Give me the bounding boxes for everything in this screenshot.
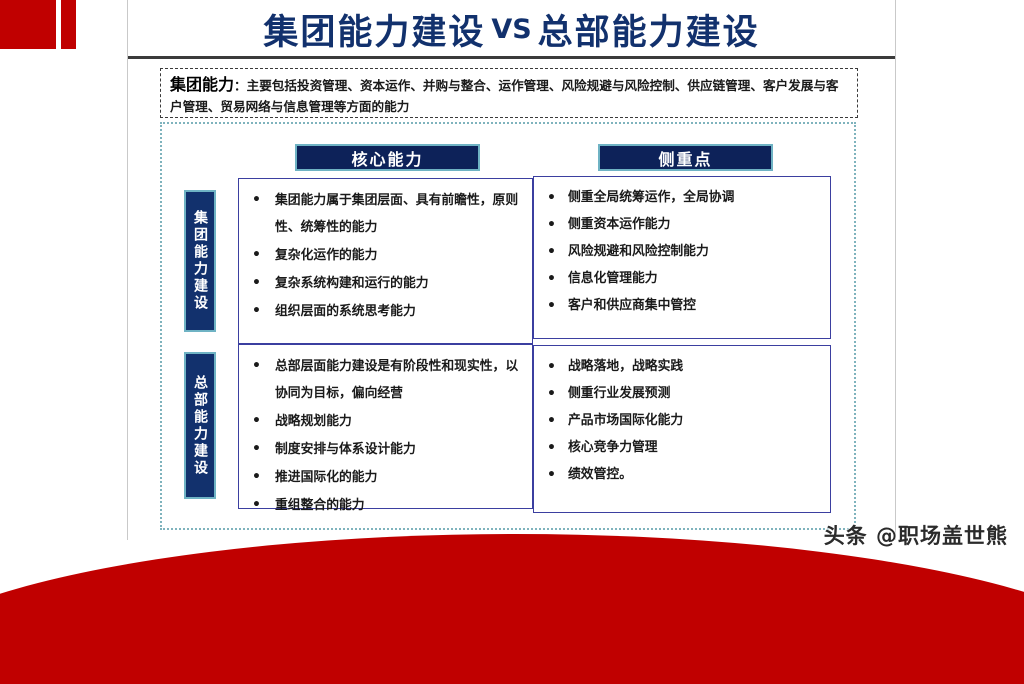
- bullet-item: 战略落地，战略实践: [540, 354, 824, 380]
- bullet-item: 推进国际化的能力: [245, 464, 526, 491]
- row-label-headquarters-capability: 总部能力建设: [184, 352, 216, 499]
- bullet-item: 客户和供应商集中管控: [540, 293, 824, 319]
- bullet-list-focus-group: 侧重全局统筹运作，全局协调侧重资本运作能力风险规避和风险控制能力信息化管理能力客…: [540, 185, 824, 319]
- watermark-text: 头条 @职场盖世熊: [824, 520, 1008, 550]
- left-margin-rule: [127, 0, 128, 540]
- bullet-item: 产品市场国际化能力: [540, 408, 824, 434]
- bullet-item: 制度安排与体系设计能力: [245, 436, 526, 463]
- row-label-group-capability: 集团能力建设: [184, 190, 216, 332]
- bullet-item: 核心竞争力管理: [540, 435, 824, 461]
- bullet-item: 侧重行业发展预测: [540, 381, 824, 407]
- row-label-group-text: 集团能力建设: [184, 210, 216, 312]
- right-margin-rule: [895, 0, 896, 540]
- bullet-item: 总部层面能力建设是有阶段性和现实性，以协同为目标，偏向经营: [245, 353, 526, 407]
- bullet-item: 组织层面的系统思考能力: [245, 298, 526, 325]
- bullet-item: 集团能力属于集团层面、具有前瞻性，原则性、统筹性的能力: [245, 187, 526, 241]
- bullet-item: 重组整合的能力: [245, 492, 526, 519]
- title-underline-rule: [128, 56, 895, 59]
- bullet-list-core-headquarters: 总部层面能力建设是有阶段性和现实性，以协同为目标，偏向经营战略规划能力制度安排与…: [245, 353, 526, 519]
- bullet-list-focus-headquarters: 战略落地，战略实践侧重行业发展预测产品市场国际化能力核心竞争力管理绩效管控。: [540, 354, 824, 488]
- bullet-item: 战略规划能力: [245, 408, 526, 435]
- column-header-core-label: 核心能力: [351, 146, 423, 170]
- definition-body: ：主要包括投资管理、资本运作、并购与整合、运作管理、风险规避与风险控制、供应链管…: [170, 78, 839, 114]
- bullet-item: 侧重全局统筹运作，全局协调: [540, 185, 824, 211]
- column-header-focus-point: 侧重点: [598, 144, 773, 171]
- title-left-text: 集团能力建设: [263, 4, 485, 55]
- slide-title: 集团能力建设 VS 总部能力建设: [128, 2, 895, 57]
- red-block-decoration: [0, 0, 56, 49]
- row-label-headquarters-text: 总部能力建设: [184, 375, 216, 477]
- column-header-focus-label: 侧重点: [658, 146, 712, 170]
- bullet-item: 复杂化运作的能力: [245, 242, 526, 269]
- bullet-list-core-group: 集团能力属于集团层面、具有前瞻性，原则性、统筹性的能力复杂化运作的能力复杂系统构…: [245, 187, 526, 325]
- title-vs-text: VS: [485, 14, 537, 45]
- bullet-item: 复杂系统构建和运行的能力: [245, 270, 526, 297]
- bullet-item: 信息化管理能力: [540, 266, 824, 292]
- bullet-item: 风险规避和风险控制能力: [540, 239, 824, 265]
- bottom-red-band: [0, 534, 1024, 684]
- panel-focus-headquarters: 战略落地，战略实践侧重行业发展预测产品市场国际化能力核心竞争力管理绩效管控。: [533, 345, 831, 513]
- title-right-text: 总部能力建设: [538, 4, 760, 55]
- panel-core-group: 集团能力属于集团层面、具有前瞻性，原则性、统筹性的能力复杂化运作的能力复杂系统构…: [238, 178, 533, 344]
- bullet-item: 侧重资本运作能力: [540, 212, 824, 238]
- definition-term: 集团能力: [170, 75, 234, 94]
- bullet-item: 绩效管控。: [540, 462, 824, 488]
- definition-box: 集团能力：主要包括投资管理、资本运作、并购与整合、运作管理、风险规避与风险控制、…: [160, 68, 858, 118]
- definition-text: 集团能力：主要包括投资管理、资本运作、并购与整合、运作管理、风险规避与风险控制、…: [170, 74, 848, 117]
- red-bar-decoration: [61, 0, 76, 49]
- panel-core-headquarters: 总部层面能力建设是有阶段性和现实性，以协同为目标，偏向经营战略规划能力制度安排与…: [238, 344, 533, 509]
- panel-focus-group: 侧重全局统筹运作，全局协调侧重资本运作能力风险规避和风险控制能力信息化管理能力客…: [533, 176, 831, 339]
- column-header-core-capability: 核心能力: [295, 144, 480, 171]
